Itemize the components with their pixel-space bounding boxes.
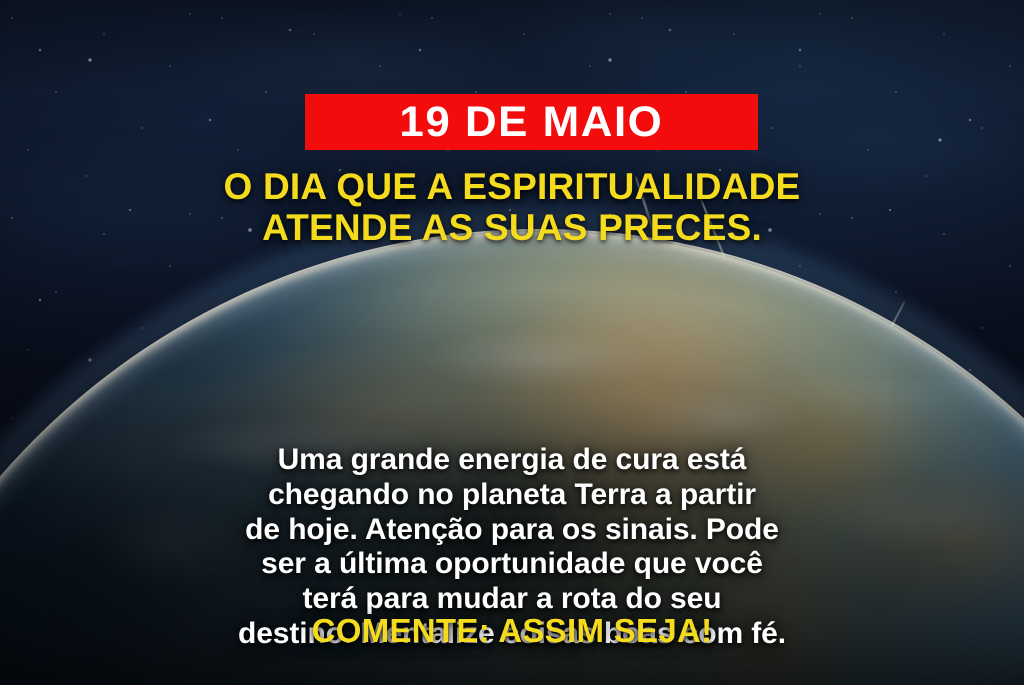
body-line-4: ser a última oportunidade que você — [62, 547, 962, 582]
social-media-poster: 19 DE MAIO O DIA QUE A ESPIRITUALIDADE A… — [0, 0, 1024, 685]
call-to-action-label: COMENTE: ASSIM SEJA! — [0, 612, 1024, 650]
body-line-2: chegando no planeta Terra a partir — [62, 478, 962, 513]
date-banner-label: 19 DE MAIO — [400, 101, 664, 144]
date-banner: 19 DE MAIO — [305, 94, 758, 150]
body-line-1: Uma grande energia de cura está — [62, 443, 962, 478]
poster-content: 19 DE MAIO O DIA QUE A ESPIRITUALIDADE A… — [0, 0, 1024, 685]
headline-line-2: ATENDE AS SUAS PRECES. — [0, 207, 1024, 248]
headline-line-1: O DIA QUE A ESPIRITUALIDADE — [0, 166, 1024, 207]
headline: O DIA QUE A ESPIRITUALIDADE ATENDE AS SU… — [0, 166, 1024, 249]
body-line-3: de hoje. Atenção para os sinais. Pode — [62, 513, 962, 548]
